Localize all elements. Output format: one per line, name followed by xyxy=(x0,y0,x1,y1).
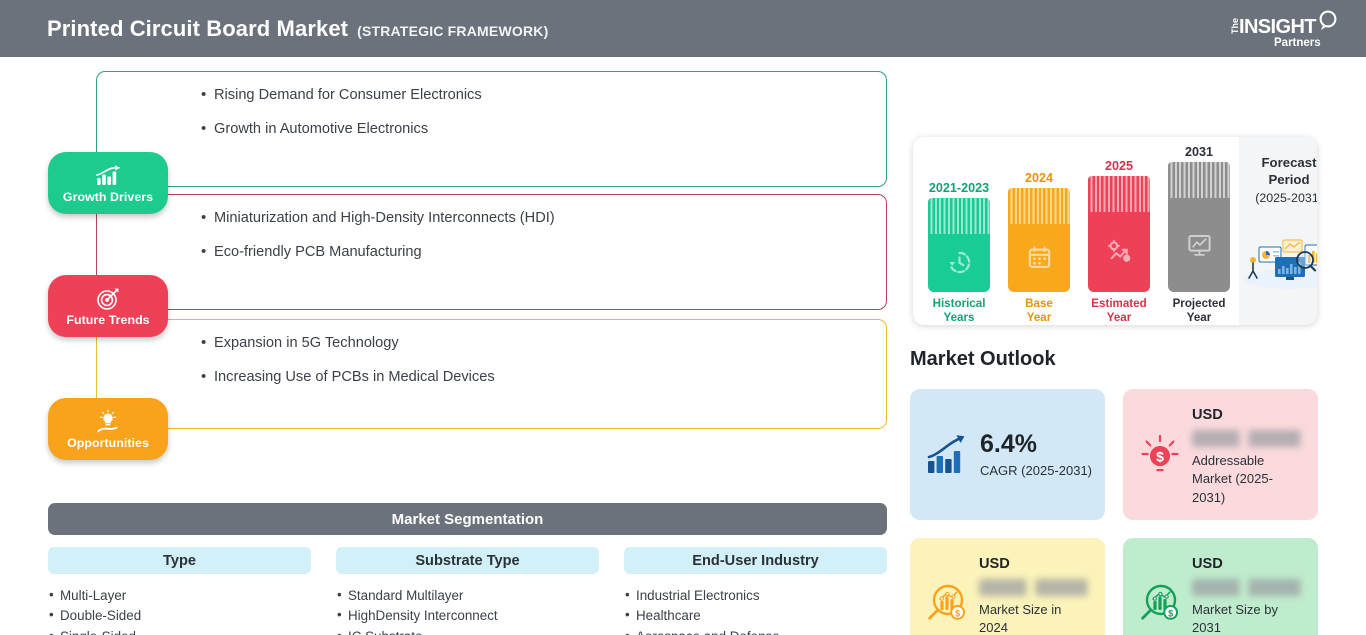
svg-text:Partners: Partners xyxy=(1274,37,1321,49)
bar-caption: Base Year xyxy=(1025,297,1053,325)
bar-year-label: 2024 xyxy=(1025,171,1053,185)
list-item: Growth in Automotive Electronics xyxy=(201,120,886,140)
kpi-value-blurred xyxy=(979,579,1092,596)
magnifier-chart-dollar-icon: $ xyxy=(924,581,970,627)
badge-label: Growth Drivers xyxy=(63,190,153,204)
bar-column xyxy=(1008,188,1070,292)
bar-column xyxy=(1168,162,1230,292)
kpi-label: Market Size in 2024 xyxy=(979,601,1092,635)
market-segmentation-header: Market Segmentation xyxy=(48,503,887,535)
segmentation-column-header: Substrate Type xyxy=(336,547,599,574)
forecast-period-range: (2025-2031) xyxy=(1255,191,1317,205)
segmentation-column-type: Type Multi-Layer Double-Sided Single-Sid… xyxy=(48,547,311,635)
list-item: Rising Demand for Consumer Electronics xyxy=(201,86,886,106)
page-subtitle: (STRATEGIC FRAMEWORK) xyxy=(357,23,548,39)
kpi-text-group: USD Addressable Market (2025-2031) xyxy=(1192,403,1305,506)
list-item: Standard Multilayer xyxy=(336,586,599,606)
bar-solid-bottom xyxy=(1088,212,1150,292)
badge-future-trends[interactable]: Future Trends xyxy=(48,275,168,337)
kpi-currency: USD xyxy=(1192,556,1305,572)
kpi-currency: USD xyxy=(1192,407,1305,423)
kpi-text-group: USD Market Size in 2024 xyxy=(979,552,1092,635)
bar-caption: Projected Year xyxy=(1173,297,1226,325)
segmentation-column-list: Multi-Layer Double-Sided Single-Sided xyxy=(48,586,311,635)
bar-year-label: 2031 xyxy=(1185,145,1213,159)
list-item: Industrial Electronics xyxy=(624,586,887,606)
market-segmentation-columns: Type Multi-Layer Double-Sided Single-Sid… xyxy=(48,547,887,635)
kpi-text-group: USD Market Size by 2031 xyxy=(1192,552,1305,635)
list-item: IC Substrate xyxy=(336,627,599,635)
forecast-period-title: Forecast Period xyxy=(1262,155,1317,188)
kpi-icon-wrap: $ xyxy=(1136,552,1184,635)
timeline-bar-projected: 2031 Projected Year xyxy=(1165,145,1233,325)
page-header: Printed Circuit Board Market (STRATEGIC … xyxy=(0,0,1366,57)
card-market-size-2024: $ USD Market Size in 2024 xyxy=(910,538,1105,635)
bar-solid-bottom xyxy=(1008,224,1070,292)
svg-text:INSIGHT: INSIGHT xyxy=(1239,16,1316,38)
svg-text:$: $ xyxy=(1156,448,1164,464)
target-dartboard-icon xyxy=(93,286,123,312)
pillar-box-opportunities: Expansion in 5G Technology Increasing Us… xyxy=(96,319,887,429)
bar-caption: Historical Years xyxy=(933,297,986,325)
pillar-items-growth-drivers: Rising Demand for Consumer Electronics G… xyxy=(97,72,886,139)
timeline-bar-estimated: 2025 xyxy=(1085,159,1153,325)
calendar-icon xyxy=(1026,244,1053,271)
lightbulb-dollar-icon: $ xyxy=(1138,432,1182,478)
segmentation-column-list: Industrial Electronics Healthcare Aerosp… xyxy=(624,586,887,635)
insight-partners-logo: The INSIGHT Partners xyxy=(1222,8,1344,50)
bar-chart-arrow-icon xyxy=(923,433,971,477)
badge-label: Future Trends xyxy=(66,313,149,327)
bar-caption: Estimated Year xyxy=(1091,297,1146,325)
bar-solid-bottom xyxy=(928,234,990,292)
card-addressable-market: $ USD Addressable Market (2025-2031) xyxy=(1123,389,1318,520)
list-item: Increasing Use of PCBs in Medical Device… xyxy=(201,368,886,388)
kpi-label: Market Size by 2031 xyxy=(1192,601,1305,635)
cagr-label: CAGR (2025-2031) xyxy=(980,463,1092,478)
bar-year-label: 2025 xyxy=(1105,159,1133,173)
badge-growth-drivers[interactable]: Growth Drivers xyxy=(48,152,168,214)
card-market-size-2031: $ USD Market Size by 2031 xyxy=(1123,538,1318,635)
badge-label: Opportunities xyxy=(67,436,149,450)
pillar-items-future-trends: Miniaturization and High-Density Interco… xyxy=(97,195,886,262)
bar-stripe-top xyxy=(1008,188,1070,224)
segmentation-column-title: Type xyxy=(163,553,196,569)
cagr-value: 6.4% xyxy=(980,432,1092,457)
svg-text:$: $ xyxy=(1168,608,1173,618)
segmentation-column-end-user-industry: End-User Industry Industrial Electronics… xyxy=(624,547,887,635)
pillar-box-growth-drivers: Rising Demand for Consumer Electronics G… xyxy=(96,71,887,187)
bar-column xyxy=(1088,176,1150,292)
infographic-body: Rising Demand for Consumer Electronics G… xyxy=(0,57,1366,635)
bar-year-label: 2021-2023 xyxy=(929,181,989,195)
list-item: HighDensity Interconnect xyxy=(336,606,599,626)
analytics-dashboard-illustration xyxy=(1239,227,1317,289)
segmentation-column-header: End-User Industry xyxy=(624,547,887,574)
svg-text:$: $ xyxy=(955,608,960,618)
segmentation-column-substrate-type: Substrate Type Standard Multilayer HighD… xyxy=(336,547,599,635)
pillar-box-future-trends: Miniaturization and High-Density Interco… xyxy=(96,194,887,310)
timeline-bar-historical: 2021-2023 Historical Ye xyxy=(925,181,993,325)
history-clock-icon xyxy=(946,249,973,276)
header-title-group: Printed Circuit Board Market (STRATEGIC … xyxy=(0,16,548,42)
segmentation-column-title: End-User Industry xyxy=(692,553,819,569)
segmentation-column-list: Standard Multilayer HighDensity Intercon… xyxy=(336,586,599,635)
list-item: Multi-Layer xyxy=(48,586,311,606)
magnifier-chart-dollar-icon: $ xyxy=(1137,581,1183,627)
list-item: Double-Sided xyxy=(48,606,311,626)
kpi-value-blurred xyxy=(1192,430,1305,447)
list-item: Miniaturization and High-Density Interco… xyxy=(201,209,886,229)
kpi-icon-wrap: $ xyxy=(923,552,971,635)
bar-solid-bottom xyxy=(1168,198,1230,292)
page-title: Printed Circuit Board Market xyxy=(47,16,348,42)
timeline-bars: 2021-2023 Historical Ye xyxy=(913,137,1239,325)
infographic-page: Printed Circuit Board Market (STRATEGIC … xyxy=(0,0,1366,635)
list-item: Single-Sided xyxy=(48,627,311,635)
list-item: Aerospace and Defense xyxy=(624,627,887,635)
bar-stripe-top xyxy=(1168,162,1230,198)
card-cagr: 6.4% CAGR (2025-2031) xyxy=(910,389,1105,520)
bar-column xyxy=(928,198,990,292)
lightbulb-hand-icon xyxy=(93,409,123,435)
growth-chart-icon xyxy=(93,163,123,189)
forecast-period-pane: Forecast Period (2025-2031) xyxy=(1239,137,1317,325)
projection-screen-icon xyxy=(1186,231,1213,258)
market-outlook-title: Market Outlook xyxy=(910,348,1056,371)
kpi-icon-wrap: $ xyxy=(1136,403,1184,506)
timeline-bar-base: 2024 Base xyxy=(1005,171,1073,325)
timeline-card: 2021-2023 Historical Ye xyxy=(913,137,1317,325)
segmentation-column-title: Substrate Type xyxy=(415,553,519,569)
list-item: Healthcare xyxy=(624,606,887,626)
list-item: Eco-friendly PCB Manufacturing xyxy=(201,243,886,263)
segmentation-column-header: Type xyxy=(48,547,311,574)
list-item: Expansion in 5G Technology xyxy=(201,334,886,354)
badge-opportunities[interactable]: Opportunities xyxy=(48,398,168,460)
forecast-gear-icon xyxy=(1106,238,1133,265)
bar-stripe-top xyxy=(1088,176,1150,212)
market-outlook-cards: 6.4% CAGR (2025-2031) $ xyxy=(910,389,1318,635)
market-segmentation-title: Market Segmentation xyxy=(392,511,544,528)
kpi-currency: USD xyxy=(979,556,1092,572)
pillar-items-opportunities: Expansion in 5G Technology Increasing Us… xyxy=(97,320,886,387)
kpi-label: Addressable Market (2025-2031) xyxy=(1192,452,1305,507)
bar-stripe-top xyxy=(928,198,990,234)
cagr-text-group: 6.4% CAGR (2025-2031) xyxy=(980,432,1092,478)
kpi-value-blurred xyxy=(1192,579,1305,596)
